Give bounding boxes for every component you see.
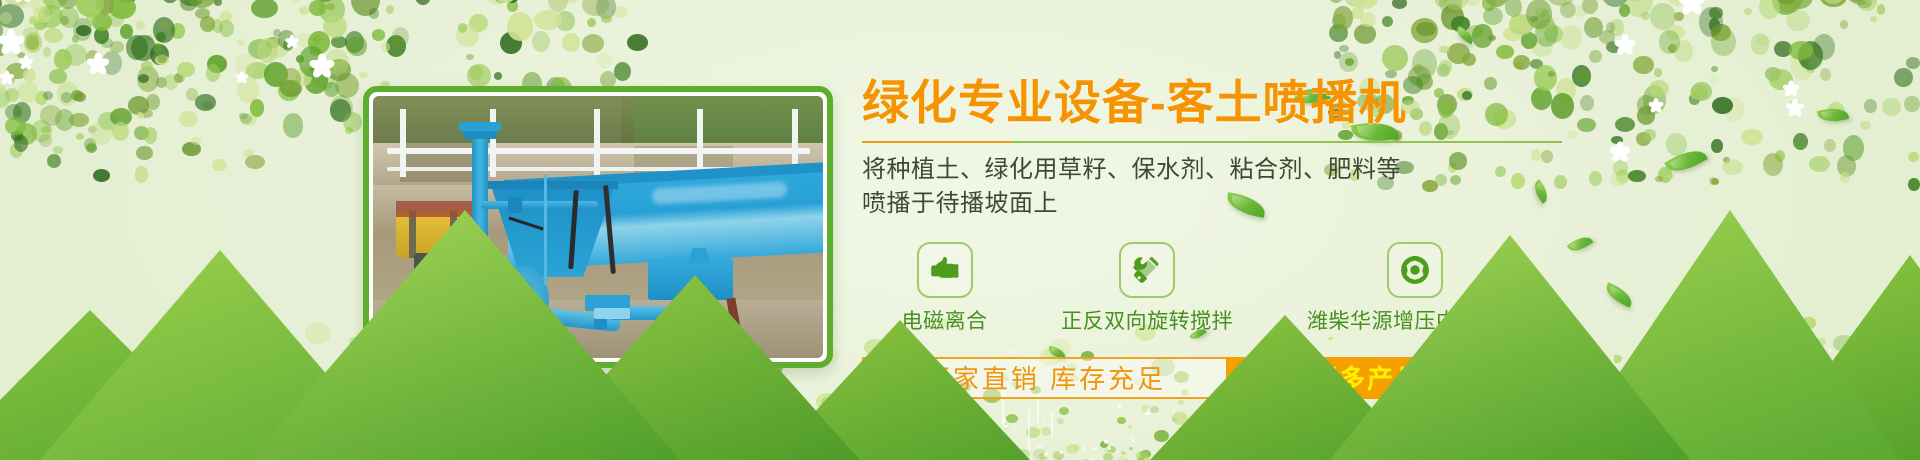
column-flange — [459, 122, 502, 131]
plate-2 — [594, 308, 630, 318]
flower-icon — [1649, 98, 1663, 112]
title-divider — [862, 141, 1562, 143]
subtitle-line-1: 将种植土、绿化用草籽、保水剂、粘合剂、肥料等 — [862, 153, 1562, 187]
feature-label: 潍柴华源增压中冷动力 — [1267, 305, 1562, 335]
promo-banner: 绿化专业设备-客土喷播机 将种植土、绿化用草籽、保水剂、粘合剂、肥料等 喷播于待… — [0, 0, 1920, 460]
gear-icon — [1387, 242, 1443, 298]
flower-icon — [12, 0, 33, 1]
pump-flange-1 — [445, 272, 463, 330]
page-title: 绿化专业设备-客土喷播机 — [862, 78, 1562, 127]
cta-tagline-text: 厂家直销 库存充足 — [924, 359, 1166, 396]
subtitle-line-2: 喷播于待播坡面上 — [862, 187, 1562, 221]
flower-icon — [1784, 81, 1799, 96]
feature-label: 电磁离合 — [862, 305, 1027, 335]
railing-post-0 — [400, 109, 406, 177]
flower-icon — [310, 53, 333, 76]
flower-icon — [1680, 0, 1704, 13]
shaft — [481, 201, 598, 209]
banner-content: 绿化专业设备-客土喷播机 将种植土、绿化用草籽、保水剂、粘合剂、肥料等 喷播于待… — [862, 78, 1562, 399]
flower-icon — [285, 34, 298, 47]
feature-label: 正反双向旋转搅拌 — [1027, 305, 1267, 335]
flower-icon — [0, 29, 23, 53]
flower-icon — [88, 52, 109, 73]
flower-icon — [1610, 141, 1629, 160]
mountain-shape — [1760, 255, 1920, 460]
side-box — [648, 258, 734, 300]
flower-icon — [1786, 98, 1802, 114]
mountain-shape — [1560, 210, 1900, 460]
product-image-card[interactable] — [363, 86, 833, 368]
leaf-icon — [1740, 270, 1789, 316]
leaf-icon — [1454, 26, 1476, 45]
feature-item-bidirectional-mixing[interactable]: 正反双向旋转搅拌 — [1027, 242, 1267, 335]
hopper-edge — [488, 181, 619, 189]
leaf-icon — [1567, 232, 1594, 256]
leaf-icon — [1817, 105, 1849, 125]
learn-more-label: 了解更多产品 — [1255, 359, 1423, 396]
feature-list: 电磁离合 正反双向旋转搅拌 — [862, 242, 1562, 335]
mountain-shape — [0, 310, 240, 460]
cable-thin — [544, 175, 547, 285]
flower-icon — [1615, 34, 1635, 54]
cta-bar: 厂家直销 库存充足 了解更多产品 — [862, 357, 1452, 399]
thumbs-up-icon — [917, 242, 973, 298]
leaf-icon — [1602, 282, 1635, 307]
learn-more-button[interactable]: 了解更多产品 — [1226, 357, 1452, 399]
column-flange-2 — [463, 131, 497, 139]
subtitle: 将种植土、绿化用草籽、保水剂、粘合剂、肥料等 喷播于待播坡面上 — [862, 153, 1562, 221]
flower-icon — [20, 55, 33, 68]
engine-band-1 — [409, 211, 416, 258]
flower-icon — [236, 72, 247, 83]
feature-item-electromagnetic-clutch[interactable]: 电磁离合 — [862, 242, 1027, 335]
railing-post-3 — [697, 109, 703, 177]
tools-icon — [1119, 242, 1175, 298]
flower-icon — [0, 70, 13, 83]
leaf-icon — [95, 373, 128, 396]
railing-post-2 — [594, 109, 600, 177]
feature-item-weichai-power[interactable]: 潍柴华源增压中冷动力 — [1267, 242, 1562, 335]
railing-post-1 — [490, 109, 496, 177]
product-photo — [373, 96, 823, 358]
leaf-icon — [1664, 143, 1708, 179]
mountain-shape — [40, 250, 400, 460]
engine-red — [396, 201, 473, 217]
engine-band-2 — [450, 211, 457, 258]
shaft-collar — [508, 197, 522, 213]
cta-tagline: 厂家直销 库存充足 — [862, 357, 1226, 399]
